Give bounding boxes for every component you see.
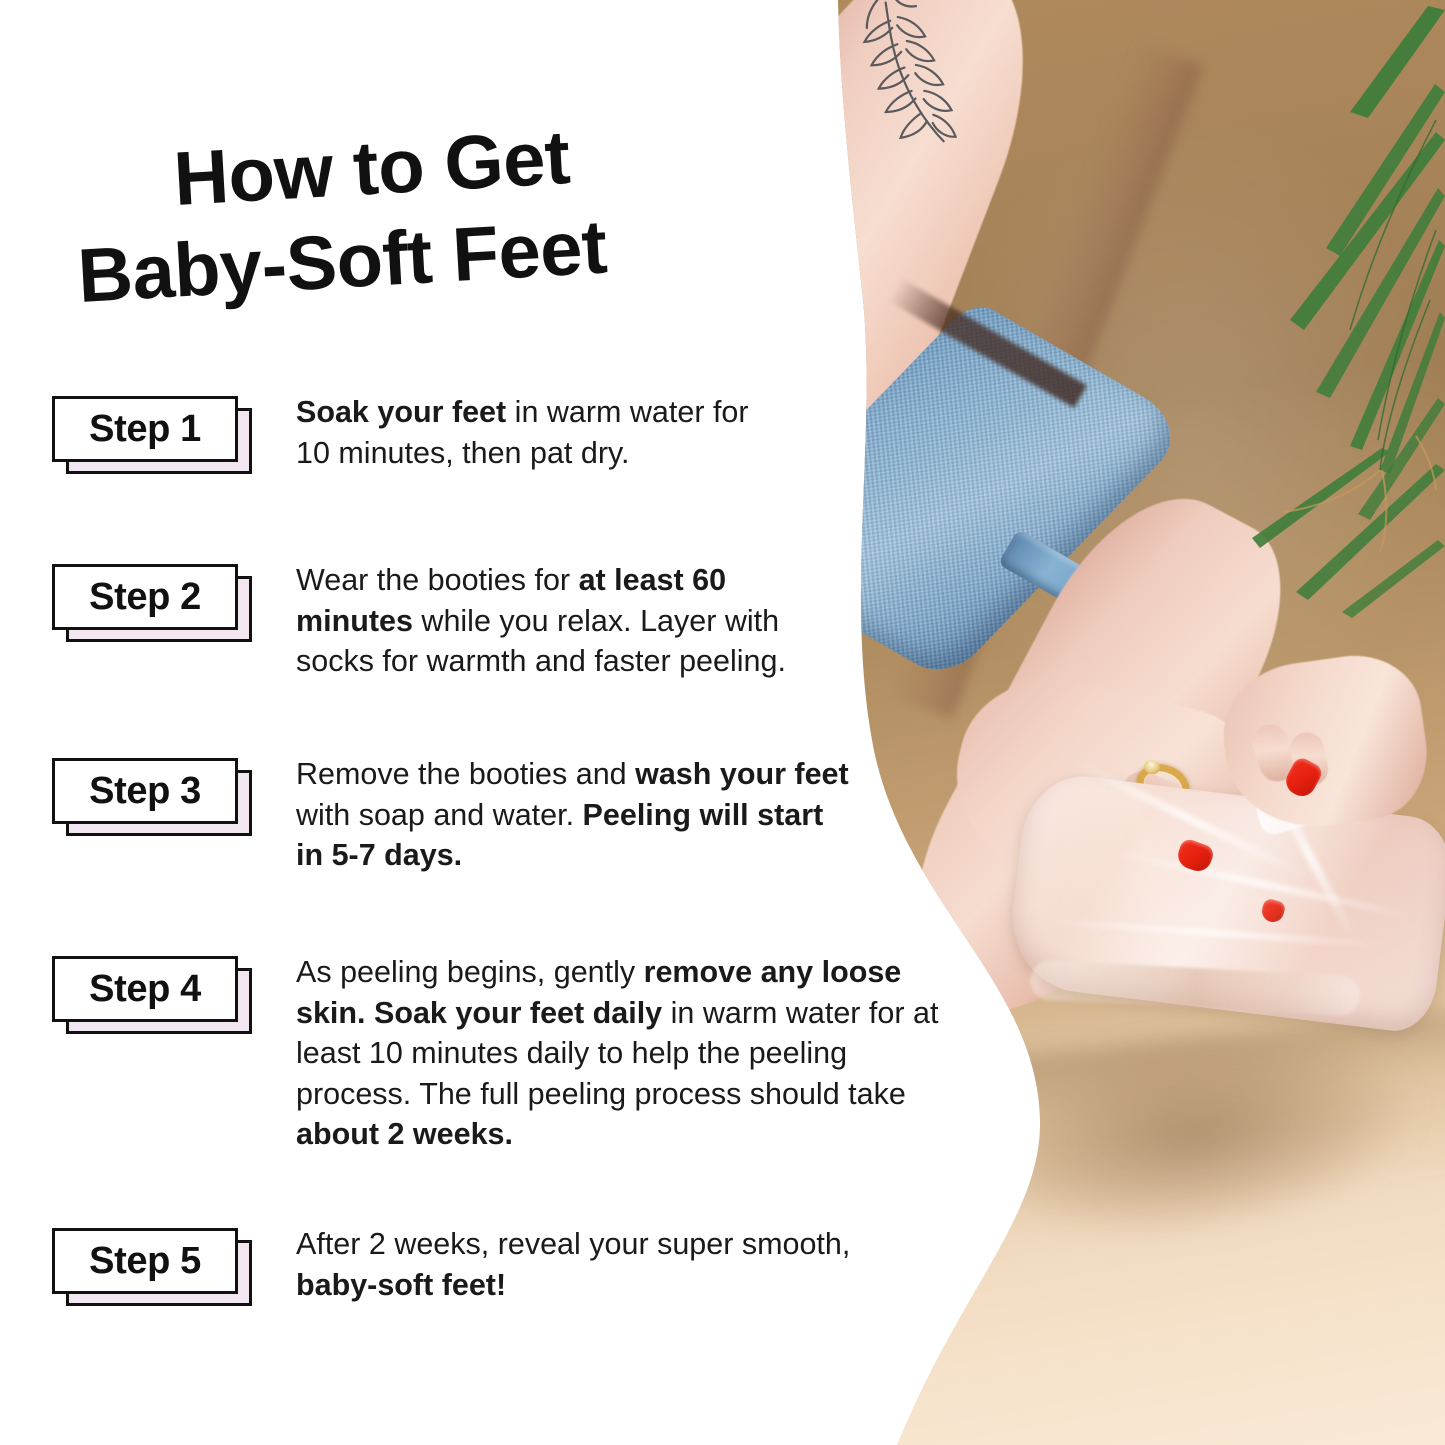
- step-badge-label: Step 4: [52, 956, 238, 1022]
- step-badge: Step 1: [52, 396, 252, 474]
- step-badge-label: Step 2: [52, 564, 238, 630]
- step-row: Step 4 As peeling begins, gently remove …: [52, 950, 952, 1155]
- step-description: Soak your feet in warm water for 10 minu…: [296, 390, 766, 473]
- step-description: Wear the booties for at least 60 minutes…: [296, 558, 836, 682]
- step-badge-label: Step 3: [52, 758, 238, 824]
- step-badge: Step 5: [52, 1228, 252, 1306]
- grass-leaves-icon: [1230, 0, 1445, 620]
- step-badge-label: Step 5: [52, 1228, 238, 1294]
- step-row: Step 5 After 2 weeks, reveal your super …: [52, 1222, 952, 1306]
- step-description: As peeling begins, gently remove any loo…: [296, 950, 952, 1155]
- step-badge: Step 3: [52, 758, 252, 836]
- step-description: Remove the booties and wash your feet wi…: [296, 752, 856, 876]
- step-row: Step 2 Wear the booties for at least 60 …: [52, 558, 952, 682]
- step-description: After 2 weeks, reveal your super smooth,…: [296, 1222, 936, 1305]
- page-title: How to Get Baby-Soft Feet: [78, 137, 778, 319]
- step-row: Step 1 Soak your feet in warm water for …: [52, 390, 952, 474]
- step-badge: Step 2: [52, 564, 252, 642]
- infographic-page: How to Get Baby-Soft Feet Step 1 Soak yo…: [0, 0, 1445, 1445]
- step-row: Step 3 Remove the booties and wash your …: [52, 752, 952, 876]
- step-badge-label: Step 1: [52, 396, 238, 462]
- step-badge: Step 4: [52, 956, 252, 1034]
